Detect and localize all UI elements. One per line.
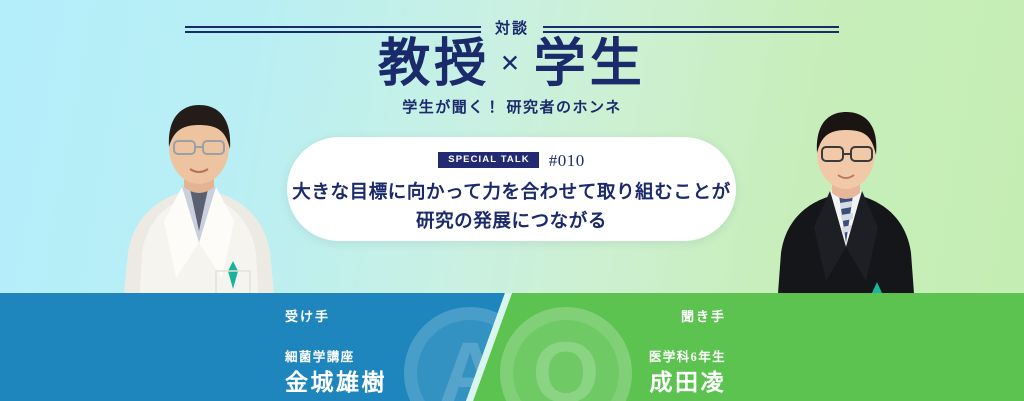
answerer-name: 金城雄樹	[285, 363, 387, 397]
card-badge-row: SPECIAL TALK #010	[287, 150, 736, 170]
talk-card[interactable]: SPECIAL TALK #010 大きな目標に向かって力を合わせて取り組むこと…	[287, 137, 736, 241]
answerer-role-label: 受け手	[285, 306, 330, 325]
page-title: 教授×学生	[0, 36, 1024, 94]
header-kicker: 対談	[495, 22, 529, 37]
questioner-name: 成田凌	[650, 363, 727, 397]
card-headline: 大きな目標に向かって力を合わせて取り組むことが 研究の発展につながる	[287, 179, 736, 236]
title-part-professor: 教授	[378, 36, 490, 93]
watermark-q-icon: Q	[500, 307, 632, 401]
title-part-student: 学生	[534, 36, 646, 93]
header-rule-right	[543, 26, 839, 33]
special-talk-badge: SPECIAL TALK	[438, 152, 538, 168]
name-band: A 受け手 細菌学講座 金城雄樹 Q 聞き手 医学科6年生 成田凌	[0, 293, 1024, 401]
questioner-role-label: 聞き手	[681, 306, 726, 325]
card-headline-line1: 大きな目標に向かって力を合わせて取り組むことが	[287, 179, 736, 208]
issue-number: #010	[549, 152, 585, 169]
talk-banner: 対談 教授×学生 学生が聞く！ 研究者のホンネ	[0, 0, 1024, 401]
card-headline-line2: 研究の発展につながる	[287, 208, 736, 237]
title-multiply-sign: ×	[490, 45, 533, 82]
answerer-panel: A 受け手 細菌学講座 金城雄樹	[0, 293, 540, 401]
header-rule-left	[185, 26, 481, 33]
